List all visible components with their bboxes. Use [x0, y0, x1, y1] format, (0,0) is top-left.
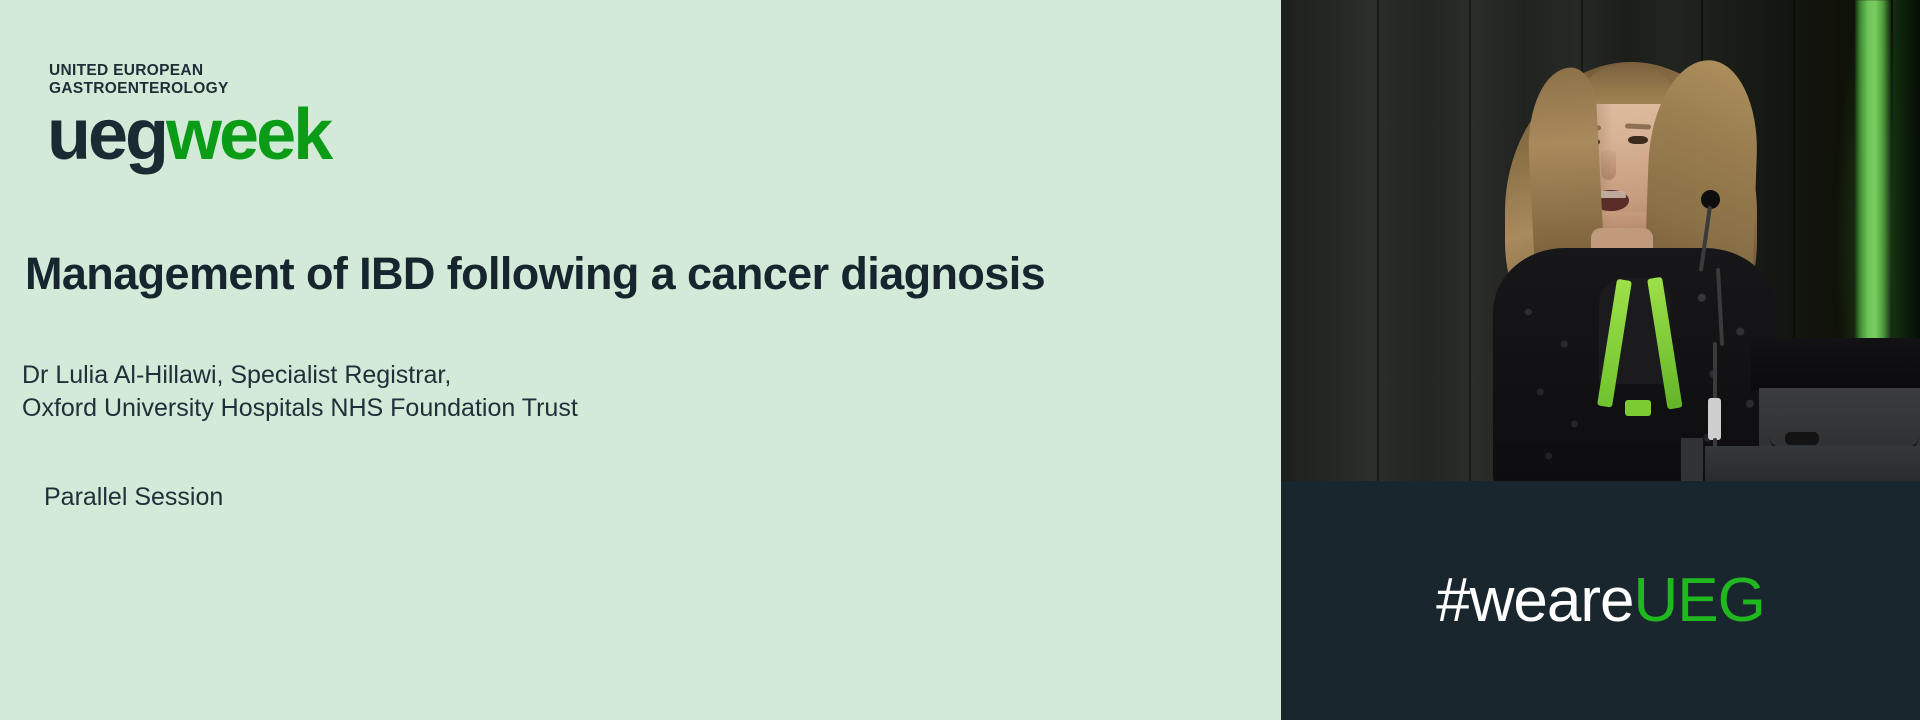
speaker-eye-right — [1628, 136, 1648, 144]
logo-org-line1: UNITED EUROPEAN — [49, 62, 330, 80]
lectern-base — [1705, 446, 1920, 481]
slide-panel: UNITED EUROPEAN GASTROENTEROLOGY uegweek… — [0, 0, 1281, 720]
lectern-top-panel — [1751, 338, 1920, 390]
hashtag-weare: #weare — [1436, 566, 1633, 635]
curtain-fold — [1469, 0, 1471, 481]
logo-week-text: week — [166, 95, 330, 175]
microphone-gooseneck — [1699, 206, 1712, 272]
microphone-gooseneck — [1713, 342, 1717, 404]
lanyard-badge-join — [1625, 400, 1651, 416]
ueg-week-logo: UNITED EUROPEAN GASTROENTEROLOGY uegweek — [47, 62, 330, 172]
speaker-video-panel[interactable] — [1281, 0, 1920, 481]
author-affiliation: Oxford University Hospitals NHS Foundati… — [22, 392, 578, 425]
curtain-fold — [1377, 0, 1379, 481]
microphone-clip — [1708, 398, 1721, 440]
lectern-side-box — [1681, 438, 1703, 481]
microphone-gooseneck — [1716, 268, 1724, 346]
speaker-lace-sleeve-left — [1511, 276, 1597, 476]
slide-title: Management of IBD following a cancer dia… — [25, 248, 1045, 300]
speaker-nose — [1601, 150, 1616, 180]
presentation-recording-frame: UNITED EUROPEAN GASTROENTEROLOGY uegweek… — [0, 0, 1920, 720]
hashtag-text: #weareUEG — [1281, 565, 1920, 636]
lectern-cable-connector — [1785, 432, 1819, 445]
author-name-role: Dr Lulia Al-Hillawi, Specialist Registra… — [22, 359, 578, 392]
hashtag-ueg: UEG — [1634, 566, 1765, 635]
session-type-label: Parallel Session — [44, 483, 223, 512]
hashtag-panel: #weareUEG — [1281, 481, 1920, 720]
logo-wordmark: uegweek — [47, 98, 330, 172]
logo-ueg-text: ueg — [47, 95, 166, 175]
slide-author-block: Dr Lulia Al-Hillawi, Specialist Registra… — [22, 359, 578, 425]
